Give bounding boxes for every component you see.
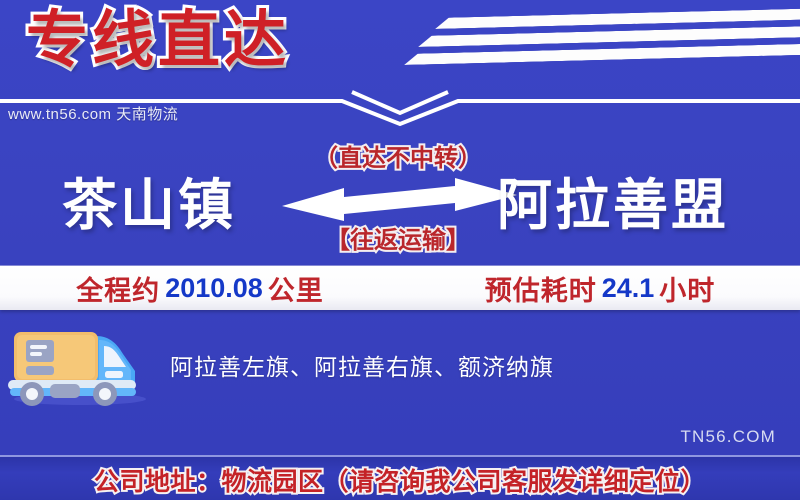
footer-bar: 公司地址：物流园区（请咨询我公司客服发详细定位） — [0, 455, 800, 500]
logistics-route-poster: 专线直达 www.tn56.com 天南物流 茶山镇 （直达不中转） 【往返运输… — [0, 0, 800, 500]
duration-label-prefix: 预估耗时 — [485, 269, 597, 308]
duration-cell: 预估耗时 24.1 小时 — [400, 266, 800, 310]
info-band: 全程约 2010.08 公里 预估耗时 24.1 小时 — [0, 266, 800, 310]
double-chevron-divider-icon — [0, 84, 800, 128]
delivery-truck-icon — [4, 314, 156, 406]
coverage-areas: 阿拉善左旗、阿拉善右旗、额济纳旗 — [170, 348, 554, 382]
distance-label-suffix: 公里 — [268, 269, 324, 308]
distance-value: 2010.08 — [160, 273, 268, 304]
headline: 专线直达 — [26, 2, 290, 80]
route-note-top: （直达不中转） — [296, 138, 500, 173]
duration-value: 24.1 — [597, 273, 660, 304]
watermark: TN56.COM — [680, 427, 776, 447]
bidirectional-arrow-icon — [282, 176, 517, 221]
destination-city: 阿拉善盟 — [497, 160, 729, 240]
origin-city: 茶山镇 — [62, 160, 236, 240]
duration-label-suffix: 小时 — [659, 269, 715, 308]
route-note-bottom: 【往返运输】 — [296, 220, 500, 255]
company-address-text: 公司地址：物流园区（请咨询我公司客服发详细定位） — [94, 462, 706, 498]
speed-bar-3 — [404, 42, 800, 65]
distance-cell: 全程约 2010.08 公里 — [0, 266, 400, 310]
distance-label-prefix: 全程约 — [76, 269, 160, 308]
speed-bar-2 — [418, 25, 800, 47]
speed-bar-1 — [435, 7, 800, 29]
